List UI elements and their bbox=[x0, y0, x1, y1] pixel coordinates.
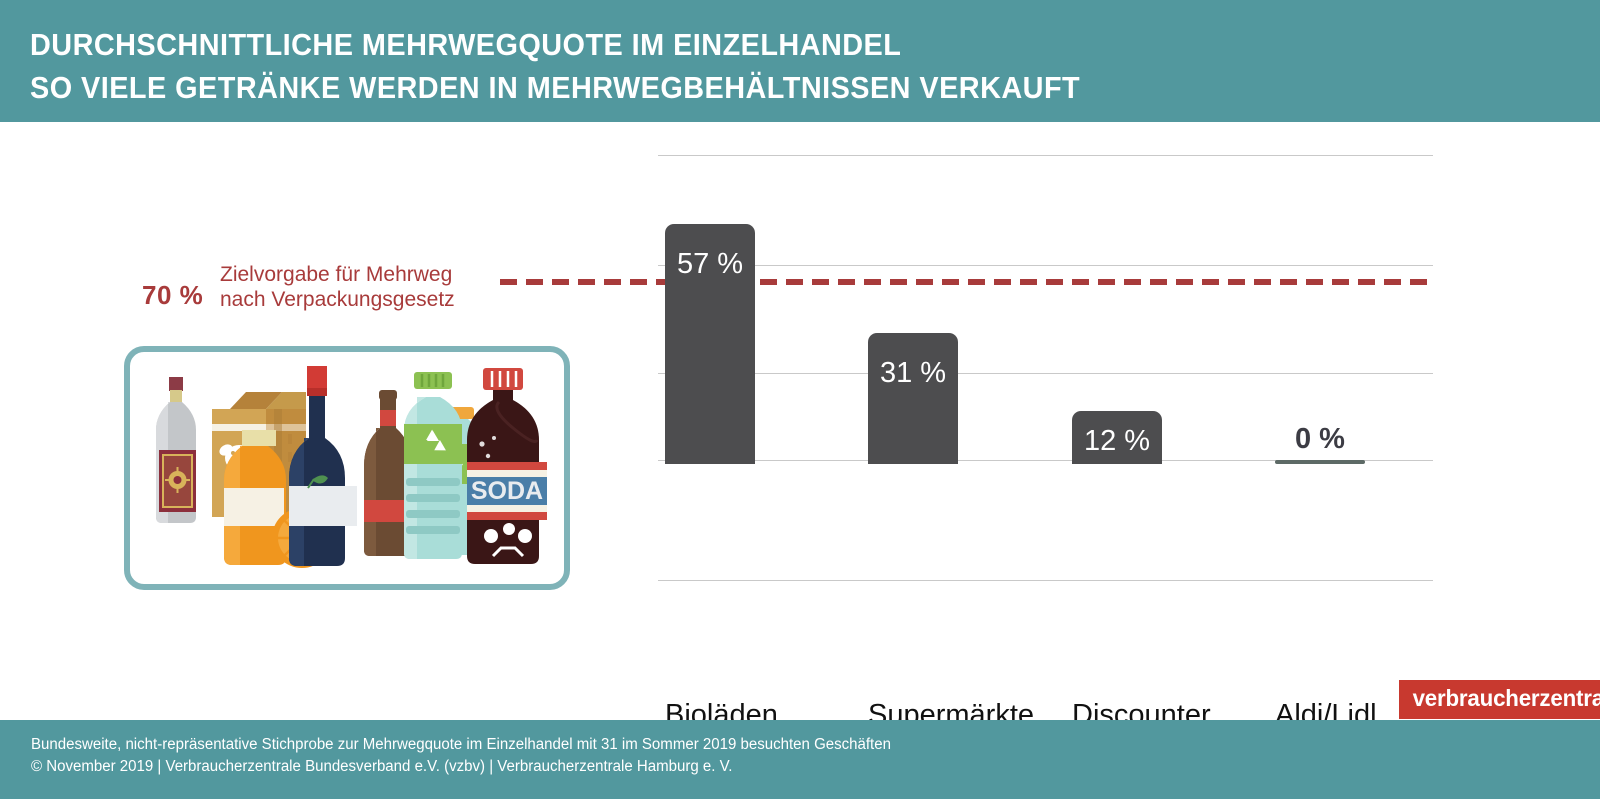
bar-value-aldi-lidl: 0 % bbox=[1275, 423, 1365, 456]
bar-supermaerkte[interactable] bbox=[868, 333, 958, 464]
page-title-line-1: DURCHSCHNITTLICHE MEHRWEGQUOTE IM EINZEL… bbox=[30, 27, 901, 63]
bar-group-bioladen: 57 % Bioläden bbox=[665, 224, 755, 464]
bar-group-supermaerkte: 31 % Supermärkte bbox=[868, 333, 958, 464]
page-title-line-2: SO VIELE GETRÄNKE WERDEN IN MEHRWEGBEHÄL… bbox=[30, 70, 1080, 106]
footer-banner: Bundesweite, nicht-repräsentative Stichp… bbox=[0, 720, 1600, 799]
soda-label: SODA bbox=[471, 477, 543, 505]
bar-group-aldi-lidl: 0 % Aldi/Lidl bbox=[1275, 460, 1365, 464]
footer-source-line: Bundesweite, nicht-repräsentative Stichp… bbox=[31, 736, 891, 754]
bar-value-bioladen: 57 % bbox=[665, 248, 755, 281]
bar-aldi-lidl[interactable] bbox=[1275, 460, 1365, 464]
pet-water-bottle-icon bbox=[404, 372, 462, 559]
footer-copyright-line: © November 2019 | Verbraucherzentrale Bu… bbox=[31, 758, 732, 776]
verbraucherzentrale-logo: verbraucherzentrale bbox=[1399, 680, 1600, 719]
bar-group-discounter: 12 % Discounter bbox=[1072, 411, 1162, 464]
bar-value-supermaerkte: 31 % bbox=[868, 357, 958, 390]
header-banner: DURCHSCHNITTLICHE MEHRWEGQUOTE IM EINZEL… bbox=[0, 0, 1600, 122]
bar-value-discounter: 12 % bbox=[1072, 425, 1162, 458]
soda-bottle-icon: SODA bbox=[467, 368, 547, 564]
beverage-illustration-svg: SODA bbox=[130, 352, 564, 584]
beverage-illustration: SODA bbox=[124, 346, 570, 590]
glass-bottle-icon bbox=[156, 377, 196, 523]
